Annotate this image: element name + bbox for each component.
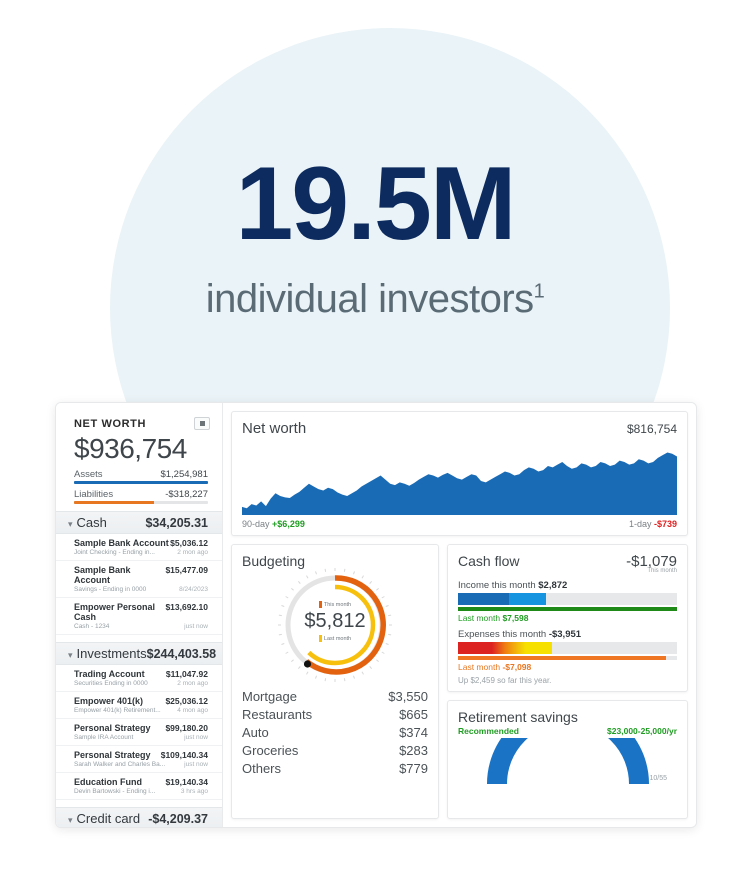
list-item[interactable]: Mortgage$3,550 [242,687,428,705]
account-subtitle: Securities Ending in 0000 [74,680,148,687]
account-subtitle: Cash - 1234 [74,623,109,630]
cash-flow-expenses-value: -$3,951 [549,629,581,640]
account-timestamp: just now [184,623,208,630]
budgeting-legend-this-month: This month [242,601,428,608]
account-timestamp: 2 mon ago [177,549,208,556]
account-name: Education Fund [74,777,142,787]
sidebar-net-worth-total: $936,754 [56,430,222,469]
account-subtitle: Sample IRA Account [74,734,133,741]
account-amount: $19,140.34 [165,777,208,787]
budgeting-category-list: Mortgage$3,550 Restaurants$665 Auto$374 … [242,687,428,777]
cash-flow-note: Up $2,459 so far this year. [458,676,677,685]
chevron-down-icon: ▾ [68,650,73,660]
net-worth-90day: 90-day +$6,299 [242,519,305,529]
net-worth-90day-value: +$6,299 [272,519,305,529]
list-item[interactable]: Sample Bank Account$5,036.12 Joint Check… [56,534,222,561]
assets-bar-row: Assets $1,254,981 [56,469,222,484]
sidebar-title: NET WORTH [74,418,146,430]
sidebar-group-credit-card[interactable]: ▾Credit card -$4,209.37 [56,807,222,827]
retirement-recommended-range: $23,000-25,000/yr [607,726,677,736]
budget-category-label: Groceries [242,743,298,758]
account-amount: $15,477.09 [165,565,208,575]
account-name: Empower 401(k) [74,696,143,706]
net-worth-area-chart [242,443,677,515]
budget-category-value: $779 [399,761,428,776]
chevron-down-icon: ▾ [68,815,73,825]
hero-footnote-marker: 1 [534,281,545,303]
hero-stat-value: 19.5M [0,150,750,259]
account-timestamp: 4 mon ago [177,707,208,714]
list-item[interactable]: Empower Personal Cash$13,692.10 Cash - 1… [56,598,222,635]
cash-flow-expenses-last-bar [458,656,677,660]
group-name-credit-card: ▾Credit card [68,811,140,826]
list-item[interactable]: Personal Strategy$99,180.20 Sample IRA A… [56,719,222,746]
list-item[interactable]: Others$779 [242,759,428,777]
list-item[interactable]: Restaurants$665 [242,705,428,723]
budgeting-donut-chart: This month $5,812 Last month [242,567,428,685]
account-amount: $109,140.34 [161,750,208,760]
assets-value: $1,254,981 [160,469,208,480]
account-timestamp: 3 hrs ago [181,788,208,795]
account-subtitle: Sarah Walker and Charles Ba... [74,761,165,768]
cash-flow-panel[interactable]: Cash flow -$1,079 This month Income this… [447,544,688,692]
budget-category-label: Restaurants [242,707,312,722]
account-name: Personal Strategy [74,723,151,733]
account-subtitle: Joint Checking - Ending in... [74,549,155,556]
cash-flow-expenses-last: Last month -$7,098 [458,662,677,672]
account-timestamp: 8/24/2023 [179,586,208,593]
net-worth-1day: 1-day -$739 [629,519,677,529]
budget-category-label: Auto [242,725,269,740]
dashboard-main: Net worth $816,754 90-day +$6,299 1-day [223,403,696,827]
budget-category-value: $665 [399,707,428,722]
list-item[interactable]: Trading Account$11,047.92 Securities End… [56,665,222,692]
chevron-down-icon: ▾ [68,519,73,529]
account-amount: $13,692.10 [165,602,208,612]
account-subtitle: Empower 401(k) Retirement... [74,707,161,714]
retirement-recommended-label: Recommended [458,726,519,736]
assets-bar-track [74,481,208,484]
group-amount-cash: $34,205.31 [145,516,208,530]
group-name-cash: ▾Cash [68,515,107,530]
account-name: Sample Bank Account [74,538,169,548]
budget-category-value: $3,550 [388,689,428,704]
group-amount-investments: $244,403.58 [147,647,217,661]
retirement-tick-label: 10/55 [649,775,667,782]
account-amount: $25,036.12 [165,696,208,706]
account-name: Personal Strategy [74,750,151,760]
hero-caption: individual investors1 [0,277,750,322]
list-item[interactable]: Personal Strategy$109,140.34 Sarah Walke… [56,746,222,773]
sidebar-group-investments[interactable]: ▾Investments $244,403.58 [56,642,222,665]
retirement-gauge-chart: 10/55 [458,738,677,784]
account-amount: $99,180.20 [165,723,208,733]
dashboard-card: NET WORTH $936,754 Assets $1,254,981 Lia… [55,402,697,828]
net-worth-1day-value: -$739 [654,519,677,529]
list-item[interactable]: Groceries$283 [242,741,428,759]
liabilities-bar-track [74,501,208,504]
net-worth-panel-amount: $816,754 [627,422,677,436]
hero-text-block: 19.5M individual investors1 [0,150,750,322]
net-worth-panel[interactable]: Net worth $816,754 90-day +$6,299 1-day [231,411,688,536]
cash-flow-income-last: Last month $7,598 [458,613,677,623]
lower-panels-row: Budgeting This month [231,544,688,819]
retirement-savings-panel[interactable]: Retirement savings Recommended $23,000-2… [447,700,688,819]
liabilities-label: Liabilities [74,489,113,500]
budget-category-value: $374 [399,725,428,740]
sidebar-header: NET WORTH [56,417,222,430]
liabilities-value: -$318,227 [165,489,208,500]
cash-flow-income-bar [458,593,677,605]
dashboard-sidebar[interactable]: NET WORTH $936,754 Assets $1,254,981 Lia… [56,403,223,827]
account-timestamp: just now [184,734,208,741]
cash-flow-income-last-bar [458,607,677,611]
list-item[interactable]: Education Fund$19,140.34 Devin Bartowski… [56,773,222,800]
group-name-investments: ▾Investments [68,646,147,661]
cash-flow-expenses-last-value: -$7,098 [502,662,531,672]
group-amount-credit-card: -$4,209.37 [148,812,208,826]
budget-category-label: Others [242,761,281,776]
cash-flow-income-last-value: $7,598 [502,613,528,623]
cash-flow-income-label: Income this month $2,872 [458,580,677,591]
account-timestamp: just now [184,761,208,768]
assets-label: Assets [74,469,103,480]
hero-caption-text: individual investors [206,277,534,321]
account-name: Sample Bank Account [74,565,165,585]
right-column: Cash flow -$1,079 This month Income this… [447,544,688,819]
account-subtitle: Devin Bartowski - Ending i... [74,788,155,795]
account-subtitle: Savings - Ending in 0000 [74,586,146,593]
budget-category-label: Mortgage [242,689,297,704]
budgeting-legend-last-month: Last month [242,635,428,642]
list-item[interactable]: Empower 401(k)$25,036.12 Empower 401(k) … [56,692,222,719]
cash-flow-expenses-bar [458,642,677,654]
account-timestamp: 2 mon ago [177,680,208,687]
budgeting-panel[interactable]: Budgeting This month [231,544,439,819]
sidebar-group-cash[interactable]: ▾Cash $34,205.31 [56,511,222,534]
list-item[interactable]: Sample Bank Account$15,477.09 Savings - … [56,561,222,598]
account-amount: $11,047.92 [166,669,208,679]
liabilities-bar-row: Liabilities -$318,227 [56,489,222,504]
cash-flow-title: Cash flow [458,553,519,569]
list-item[interactable]: Auto$374 [242,723,428,741]
retirement-title: Retirement savings [458,709,677,725]
net-worth-panel-title: Net worth [242,420,306,437]
cash-flow-expenses-label: Expenses this month -$3,951 [458,629,677,640]
account-name: Empower Personal Cash [74,602,165,622]
account-amount: $5,036.12 [170,538,208,548]
account-name: Trading Account [74,669,145,679]
cash-flow-income-value: $2,872 [538,580,567,591]
budgeting-center-amount: $5,812 [242,608,428,635]
budget-category-value: $283 [399,743,428,758]
square-icon[interactable] [194,417,210,430]
page-root: 19.5M individual investors1 NET WORTH $9… [0,0,750,880]
